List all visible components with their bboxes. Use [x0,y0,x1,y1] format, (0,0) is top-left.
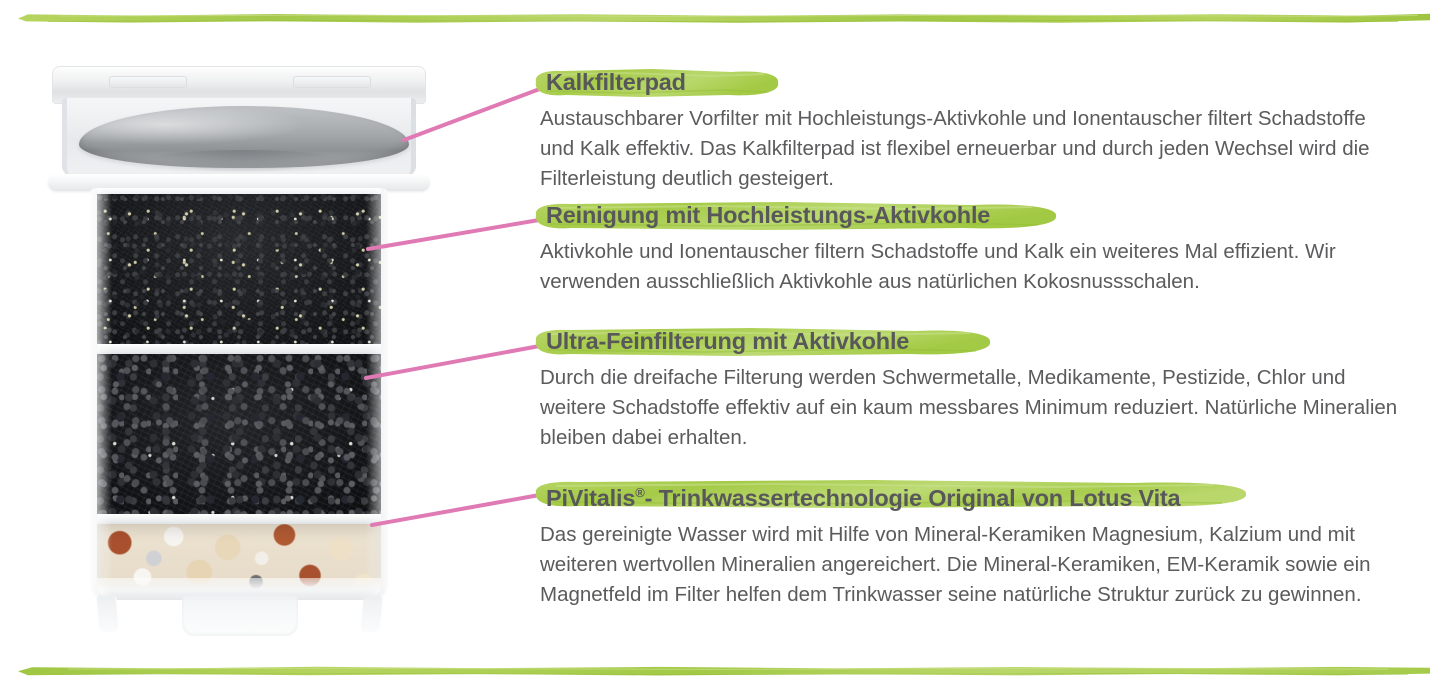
lid-tab-right [293,76,371,88]
heading-wrap-2: Ultra-Feinfilterung mit Aktivkohle [540,325,919,357]
heading-wrap-1: Reinigung mit Hochleistungs-Aktivkohle [540,199,1000,231]
section-heading: Ultra-Feinfilterung mit Aktivkohle [540,325,919,357]
section-pivitalis: PiVitalis®- Trinkwassertechnologie Origi… [540,477,1410,610]
section-ultra-feinfilterung: Ultra-Feinfilterung mit Aktivkohle Durch… [540,325,1410,453]
heading-wrap-0: Kalkfilterpad [540,66,696,98]
heading-suffix: - Trinkwassertechnologie Original von Lo… [645,485,1181,511]
filter-canister [90,188,388,600]
heading-wrap-3: PiVitalis®- Trinkwassertechnologie Origi… [540,477,1190,514]
section-heading: Kalkfilterpad [540,66,696,98]
section-heading: Reinigung mit Hochleistungs-Aktivkohle [540,199,1000,231]
chamber-divider-upper [97,344,381,354]
carbon-coarse-layer [97,354,381,516]
filter-lid-body [62,98,416,176]
lid-tab-left [109,76,187,88]
kalkfilterpad-layer [79,106,409,168]
section-body: Austauschbarer Vorfilter mit Hochleistun… [540,104,1400,194]
green-brush-rule-top [18,12,1430,25]
section-kalkfilterpad: Kalkfilterpad Austauschbarer Vorfilter m… [540,66,1410,194]
green-brush-rule-bottom [18,664,1430,677]
filter-foot-center [182,596,298,636]
filter-leg-right [360,596,383,632]
filter-leg-left [96,596,119,632]
section-reinigung: Reinigung mit Hochleistungs-Aktivkohle A… [540,199,1410,297]
registered-trademark-icon: ® [635,485,644,500]
heading-prefix: PiVitalis [546,485,635,511]
section-body: Das gereinigte Wasser wird mit Hilfe von… [540,520,1400,610]
carbon-fine-layer [97,194,381,346]
product-filter-cartridge [44,62,434,652]
chamber-divider-lower [97,514,381,524]
section-body: Aktivkohle und Ionentauscher filtern Sch… [540,237,1400,297]
section-heading: PiVitalis®- Trinkwassertechnologie Origi… [540,477,1190,514]
section-body: Durch die dreifache Filterung werden Sch… [540,363,1400,453]
